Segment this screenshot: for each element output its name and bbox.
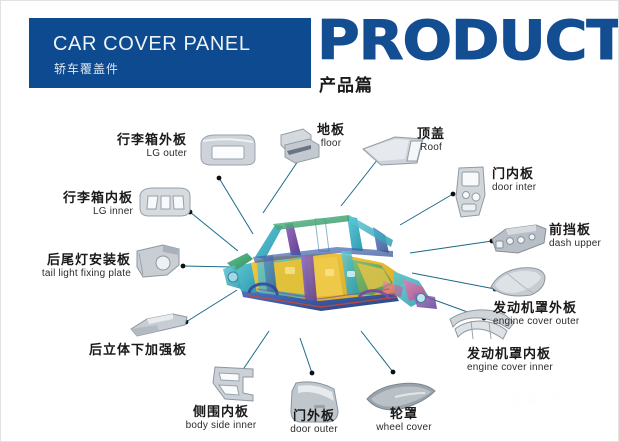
label-wheel-cover: 轮罩 wheel cover — [349, 407, 459, 434]
label-engine-cover-outer-en: engine cover outer — [493, 316, 619, 328]
label-tail-light-fixing-zh: 后尾灯安装板 — [5, 253, 131, 268]
label-dash-upper-zh: 前挡板 — [549, 223, 619, 238]
label-door-inter-zh: 门内板 — [492, 167, 612, 182]
label-lg-inner-en: LG inner — [17, 206, 133, 218]
label-lg-outer-zh: 行李箱外板 — [67, 133, 187, 148]
part-thumb-engine-cover-outer — [487, 265, 549, 299]
part-thumb-dash-upper — [488, 223, 550, 257]
label-floor-zh: 地板 — [301, 123, 361, 138]
label-engine-cover-inner: 发动机罩内板 engine cover inner — [467, 347, 603, 374]
label-floor: 地板 floor — [301, 123, 361, 150]
part-thumb-tail-light-fixing — [133, 243, 183, 281]
part-thumb-door-inter — [453, 165, 489, 219]
label-dash-upper-en: dash upper — [549, 238, 619, 250]
label-lg-outer-en: LG outer — [67, 148, 187, 160]
label-rear-lower-reinf: 后立体下加强板 — [89, 343, 229, 358]
label-engine-cover-inner-en: engine cover inner — [467, 362, 603, 374]
label-tail-light-fixing-en: tail light fixing plate — [5, 268, 131, 280]
part-thumb-lg-outer — [197, 133, 259, 167]
label-rear-lower-reinf-zh: 后立体下加强板 — [89, 343, 229, 358]
label-floor-en: floor — [301, 138, 361, 150]
leader-dot — [217, 176, 222, 181]
label-door-inter-en: door inter — [492, 182, 612, 194]
label-roof-zh: 顶盖 — [401, 127, 461, 142]
part-thumb-body-side-inner — [209, 363, 259, 405]
leader-dot — [310, 371, 315, 376]
part-thumb-lg-inner — [137, 187, 193, 217]
label-tail-light-fixing: 后尾灯安装板 tail light fixing plate — [5, 253, 131, 280]
label-door-inter: 门内板 door inter — [492, 167, 612, 194]
label-engine-cover-outer-zh: 发动机罩外板 — [493, 301, 619, 316]
label-lg-inner: 行李箱内板 LG inner — [17, 191, 133, 218]
leader-dot — [391, 370, 396, 375]
label-lg-inner-zh: 行李箱内板 — [17, 191, 133, 206]
label-wheel-cover-zh: 轮罩 — [349, 407, 459, 422]
label-roof: 顶盖 Roof — [401, 127, 461, 154]
label-dash-upper: 前挡板 dash upper — [549, 223, 619, 250]
car-body-in-white-render — [197, 197, 459, 347]
label-wheel-cover-en: wheel cover — [349, 422, 459, 434]
part-thumb-rear-lower-reinf — [129, 311, 191, 339]
label-engine-cover-inner-zh: 发动机罩内板 — [467, 347, 603, 362]
label-engine-cover-outer: 发动机罩外板 engine cover outer — [493, 301, 619, 328]
product-page: CAR COVER PANEL 轿车覆盖件 PRODUCT 产品篇 — [0, 0, 619, 442]
label-lg-outer: 行李箱外板 LG outer — [67, 133, 187, 160]
label-roof-en: Roof — [401, 142, 461, 154]
